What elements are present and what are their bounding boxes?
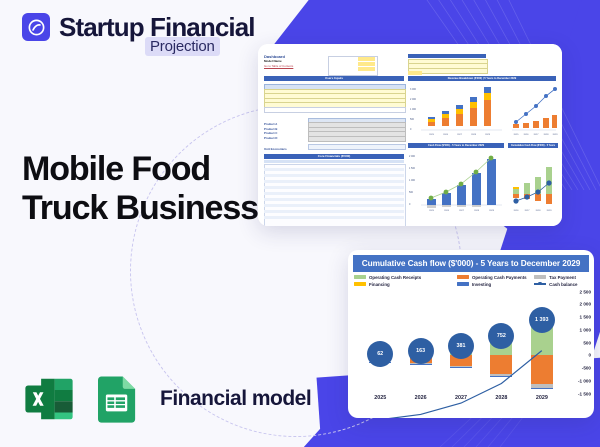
svg-text:2029: 2029 [485, 134, 491, 136]
legend-label: Tax Payment [549, 275, 576, 280]
financials-row [264, 204, 404, 207]
infinity-e-logo-icon [22, 13, 50, 41]
legend-swatch-green [354, 275, 366, 278]
svg-text:500: 500 [409, 191, 414, 194]
svg-text:2 000: 2 000 [410, 98, 417, 101]
svg-text:3 000: 3 000 [410, 88, 417, 91]
financials-row [264, 180, 404, 183]
chart-y-axis: 2 500 2 000 1 500 1 000 500 0 -500 -1 00… [565, 290, 591, 394]
svg-text:2028: 2028 [544, 134, 550, 136]
svg-text:2026: 2026 [524, 134, 530, 136]
mini-chart-profitability: 202520262027 20282029 [506, 82, 558, 140]
svg-text:2029: 2029 [553, 134, 558, 136]
cash-balance-marker-2029: 1 393 [529, 307, 555, 333]
section-header-cashflow: Cash Flow ($'000) - 5 Years to December … [408, 143, 504, 148]
dropdown-cell[interactable] [408, 71, 422, 75]
legend-item-financing[interactable]: Financing [354, 282, 457, 287]
legend-label: Financing [369, 282, 390, 287]
legend-item-cash-balance[interactable]: Cash balance [534, 282, 588, 287]
y-tick: -1 500 [578, 391, 591, 396]
svg-text:2027: 2027 [457, 134, 463, 136]
brand-subtitle: Projection [145, 37, 220, 56]
svg-text:2026: 2026 [444, 210, 450, 212]
svg-text:2028: 2028 [474, 210, 480, 212]
chart-title: Cumulative Cash flow ($'000) - 5 Years t… [353, 255, 589, 272]
dashboard-model-name: Model Name [264, 59, 282, 63]
y-tick: 500 [583, 340, 591, 345]
google-sheets-icon [89, 372, 143, 426]
svg-text:2026: 2026 [514, 210, 520, 212]
cash-balance-marker-2028: 752 [488, 323, 514, 349]
y-tick: 1 500 [580, 315, 592, 320]
y-tick: -1 000 [578, 378, 591, 383]
legend-item-investing[interactable]: Investing [457, 282, 534, 287]
poster-canvas: Startup Financial Projection Mobile Food… [0, 0, 600, 447]
legend-swatch-line [534, 283, 546, 284]
cash-balance-marker-2027: 381 [448, 333, 474, 359]
legend-swatch-blue [457, 282, 469, 285]
section-header-financials: Core Financials ($'000) [264, 154, 404, 159]
financials-row [264, 186, 404, 189]
matrix-label-3: Product C [264, 131, 277, 135]
svg-text:2025: 2025 [429, 134, 435, 136]
mini-chart-revenue: 3 0002 000 1 0005000 202520262027 202820… [408, 82, 504, 140]
y-tick: 2 500 [580, 289, 592, 294]
chart-legend: Operating Cash Receipts Operating Cash P… [348, 272, 594, 288]
microsoft-excel-icon [22, 372, 76, 426]
svg-text:2025: 2025 [514, 134, 520, 136]
y-tick: -500 [582, 366, 591, 371]
legend-label: Investing [472, 282, 491, 287]
svg-text:2 000: 2 000 [409, 155, 416, 158]
legend-label: Operating Cash Receipts [369, 275, 421, 280]
spreadsheet-surface: Dashboard Model Name Go to Table of Cont… [258, 44, 562, 226]
svg-text:2029: 2029 [547, 210, 553, 212]
financials-row [264, 192, 404, 195]
page-title: Mobile Food Truck Business [22, 150, 262, 229]
matrix-label-1: Product A [264, 122, 277, 126]
svg-text:2029: 2029 [489, 210, 495, 212]
mini-chart-cashflow: 2 0001 5001 000 5000 [408, 149, 504, 221]
mini-table-b-header [408, 54, 486, 58]
legend-swatch-yellow [354, 282, 366, 285]
legend-label: Cash balance [549, 282, 577, 287]
svg-text:2026: 2026 [443, 134, 449, 136]
legend-item-operating-cash-payments[interactable]: Operating Cash Payments [457, 275, 534, 280]
svg-text:1 000: 1 000 [410, 108, 417, 111]
filetype-caption: Financial model [160, 387, 311, 411]
matrix-label-2: Product B [264, 127, 277, 131]
legend-swatch-gray [534, 275, 546, 278]
y-tick: 2 000 [580, 302, 592, 307]
filetype-row: Financial model [22, 372, 311, 426]
mini-table-a-highlight-3 [358, 67, 375, 71]
y-tick: 0 [588, 353, 591, 358]
cumulative-cashflow-chart-card[interactable]: Cumulative Cash flow ($'000) - 5 Years t… [348, 250, 594, 418]
chart-plot-area: 2 500 2 000 1 500 1 000 500 0 -500 -1 00… [348, 290, 594, 402]
mini-table-a-highlight-2 [358, 62, 375, 66]
section-header-inputs: Users Inputs [264, 76, 404, 81]
legend-label: Operating Cash Payments [472, 275, 527, 280]
cash-balance-marker-2026: 163 [408, 338, 434, 364]
svg-text:2027: 2027 [525, 210, 531, 212]
svg-text:2028: 2028 [536, 210, 542, 212]
svg-text:0: 0 [410, 128, 412, 131]
financials-row [264, 198, 404, 201]
cash-balance-marker-2025: 62 [367, 341, 393, 367]
mini-table-a-highlight [358, 57, 375, 61]
dashboard-toc-link[interactable]: Go to Table of Contents [264, 64, 293, 68]
excel-dashboard-preview[interactable]: Dashboard Model Name Go to Table of Cont… [258, 44, 562, 226]
svg-text:0: 0 [409, 203, 411, 206]
svg-text:1 500: 1 500 [409, 167, 416, 170]
section-header-unit: Unit Economics [264, 147, 287, 151]
y-tick: 1 000 [580, 327, 592, 332]
legend-item-tax-payment[interactable]: Tax Payment [534, 275, 588, 280]
section-header-cumulative: Cumulative Cash Flow ($'000) - 5 Years [508, 143, 558, 148]
legend-item-operating-cash-receipts[interactable]: Operating Cash Receipts [354, 275, 457, 280]
financials-row [264, 210, 404, 213]
input-grid-total [264, 107, 406, 113]
chart-bars: 62 163 381 752 1 393 [360, 290, 562, 394]
brand-lockup: Startup Financial [22, 13, 255, 41]
financials-row [264, 174, 404, 177]
section-header-revenue: Revenue Breakdown ($'000) | 5 Years to D… [408, 76, 556, 81]
unit-row [308, 144, 406, 150]
mini-chart-cumulative: 20262027 20282029 [506, 149, 558, 221]
svg-text:2028: 2028 [471, 134, 477, 136]
financials-header [264, 160, 404, 163]
legend-swatch-orange [457, 275, 469, 278]
svg-text:2027: 2027 [459, 210, 465, 212]
svg-text:500: 500 [410, 118, 415, 121]
matrix-label-4: Product D [264, 136, 277, 140]
svg-text:1 000: 1 000 [409, 179, 416, 182]
financials-row [264, 168, 404, 171]
financials-row [264, 216, 404, 219]
svg-text:2025: 2025 [429, 210, 435, 212]
matrix-row [308, 136, 406, 142]
svg-text:2027: 2027 [534, 134, 540, 136]
